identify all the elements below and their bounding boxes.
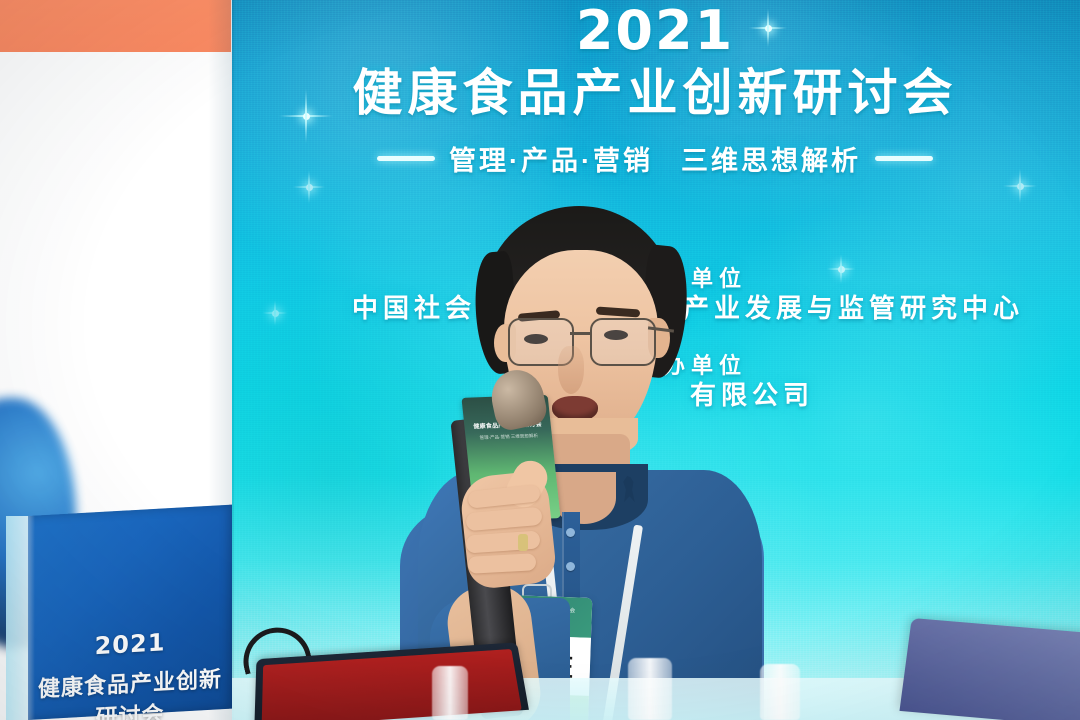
speaker-finger [468, 553, 537, 574]
backdrop-title: 健康食品产业创新研讨会 [230, 64, 1080, 123]
backdrop-headline: 2021 健康食品产业创新研讨会 管理·产品·营销三维思想解析 [230, 0, 1080, 178]
standee-text-block: 2021 健康食品产业创新研讨会 [28, 625, 232, 720]
subtitle-left: 管理·产品·营销 [449, 146, 653, 176]
rule-right [875, 156, 933, 161]
backdrop-subtitle: 管理·产品·营销三维思想解析 [449, 139, 861, 178]
shirt-button [566, 528, 575, 537]
laptop-left-screen [262, 649, 522, 720]
screenshot-stage: 2021 健康食品产业创新研讨会 管理·产品·营销三维思想解析 主办单位 中国社… [0, 0, 1080, 720]
water-bottle [432, 666, 468, 720]
backdrop-year: 2021 [230, 0, 1080, 58]
glasses-bridge [570, 332, 592, 335]
water-bottle [760, 664, 800, 720]
laptop-right [899, 618, 1080, 720]
speaker-figure: 2021健康食品产业创新研讨会 管理·产品·营销 三维思想解析 嘉宾证 证件 2… [406, 206, 762, 720]
finger-ring [518, 534, 528, 551]
speaker-nose [558, 346, 584, 394]
standee-side-strip [6, 516, 30, 720]
water-bottle [628, 658, 672, 720]
orange-accent-strip [0, 0, 231, 52]
shirt-button [566, 562, 575, 571]
subtitle-right: 三维思想解析 [681, 146, 861, 176]
standee-title: 健康食品产业创新研讨会 [28, 661, 232, 720]
standee-year: 2021 [28, 625, 232, 664]
backdrop-subtitle-row: 管理·产品·营销三维思想解析 [230, 139, 1080, 178]
lens-right [590, 318, 656, 366]
rule-left [377, 156, 435, 161]
mic-flag-line3: 管理·产品·营销 三维思想解析 [465, 433, 552, 442]
event-standee-banner: 2021 健康食品产业创新研讨会 [28, 505, 232, 720]
